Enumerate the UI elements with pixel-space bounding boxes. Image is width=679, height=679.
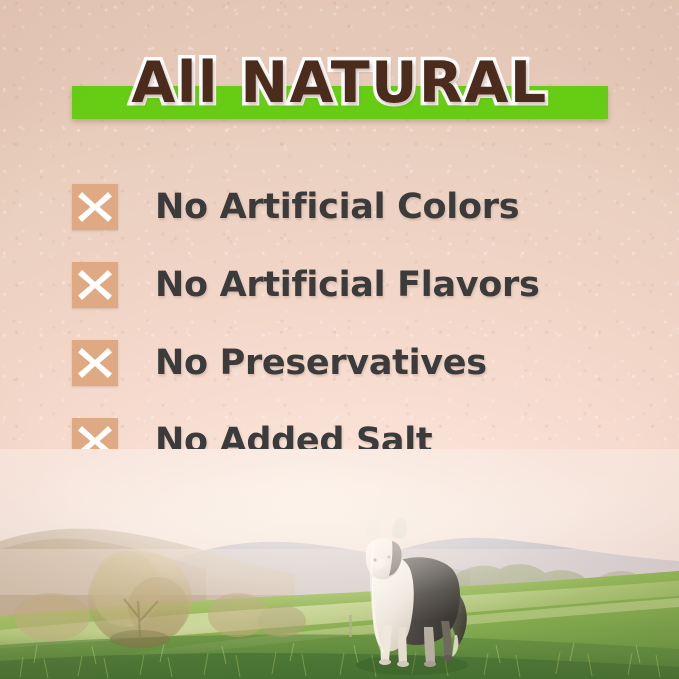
list-item: No Artificial Flavors — [0, 246, 679, 324]
poster-canvas: All NATURAL No Artificial Colors No Arti… — [0, 0, 679, 679]
list-item: No Preservatives — [0, 324, 679, 402]
list-item-label: No Preservatives — [155, 343, 487, 383]
list-item: No Artificial Colors — [0, 168, 679, 246]
list-item-label: No Artificial Flavors — [155, 265, 540, 305]
x-mark-icon — [72, 262, 118, 308]
page-title: All NATURAL — [0, 46, 679, 120]
landscape-photo — [0, 449, 679, 679]
landscape-illustration — [0, 449, 679, 679]
claims-list: No Artificial Colors No Artificial Flavo… — [0, 168, 679, 480]
title-block: All NATURAL — [0, 46, 679, 132]
x-mark-icon — [72, 184, 118, 230]
list-item-label: No Artificial Colors — [155, 187, 519, 227]
x-mark-icon — [72, 340, 118, 386]
